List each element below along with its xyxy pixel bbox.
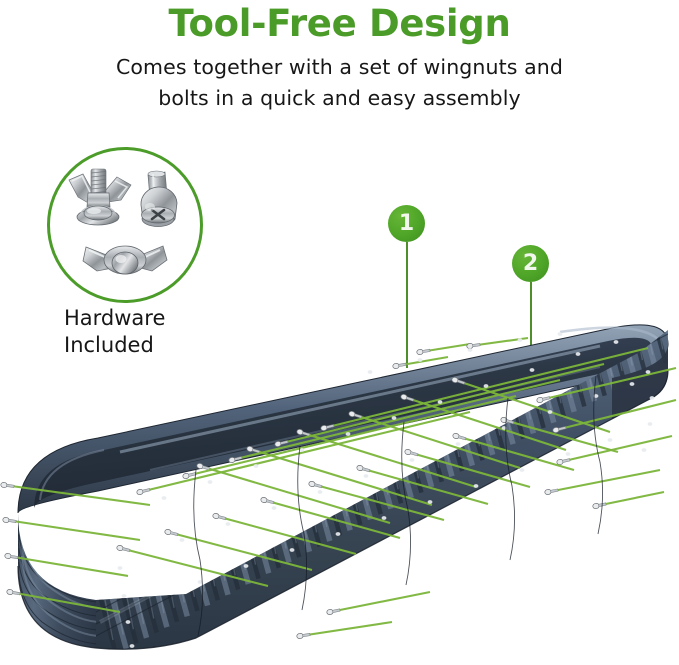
infographic-canvas: Tool-Free Design Comes together with a s… [0, 0, 679, 665]
raised-garden-bed-illustration [0, 0, 679, 665]
